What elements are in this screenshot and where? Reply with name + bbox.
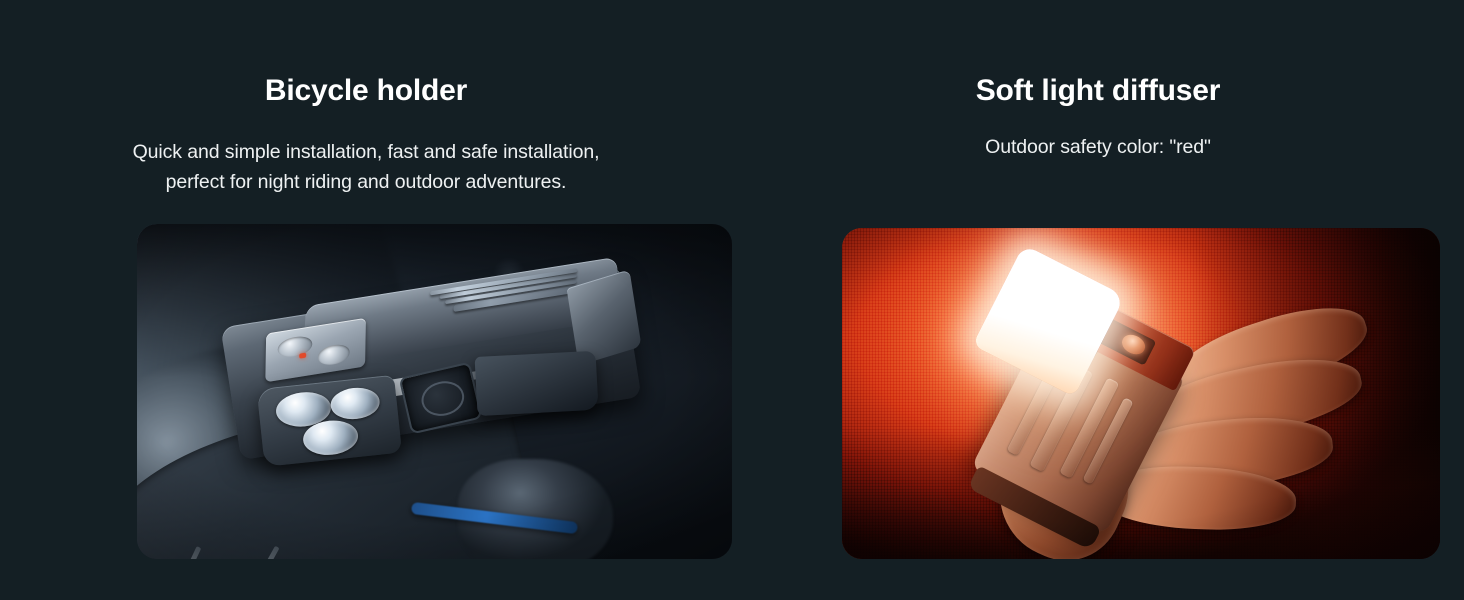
description-line-2: perfect for night riding and outdoor adv… [166,171,567,193]
handlebar-branding-text [242,545,280,559]
handlebar-mount-clamp [475,351,599,416]
power-button [278,335,312,360]
panel-description-soft-light-diffuser: Outdoor safety color: "red" [732,132,1464,162]
feature-panel-bicycle-holder: Bicycle holder Quick and simple installa… [0,0,732,600]
bike-photo-scene [137,224,732,559]
description-line-1: Outdoor safety color: "red" [985,136,1211,158]
handlebar-stem [458,459,613,560]
red-photo-scene [842,228,1440,559]
bike-light-on-handlebar-photo [137,224,732,559]
description-line-1: Quick and simple installation, fast and … [133,141,600,163]
lens-housing [257,375,402,467]
panel-description-bicycle-holder: Quick and simple installation, fast and … [0,137,732,197]
led-lens [329,386,381,422]
panel-heading-soft-light-diffuser: Soft light diffuser [732,73,1464,109]
handlebar-branding-text [171,546,202,559]
panel-heading-bicycle-holder: Bicycle holder [0,73,732,109]
status-indicator-led [300,353,307,359]
feature-panels-page: Bicycle holder Quick and simple installa… [0,0,1464,600]
mode-button [318,344,350,368]
red-diffuser-in-hand-photo [842,228,1440,559]
feature-panel-soft-light-diffuser: Soft light diffuser Outdoor safety color… [732,0,1464,600]
